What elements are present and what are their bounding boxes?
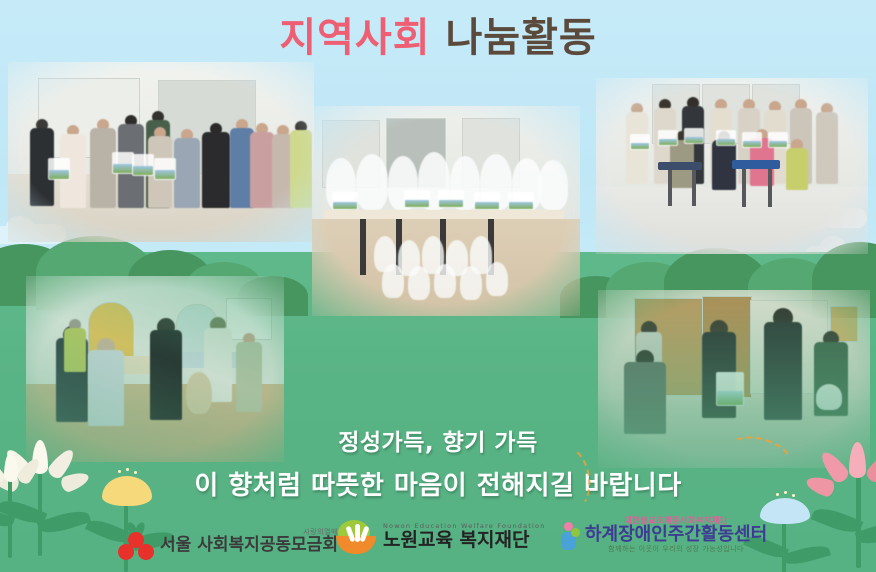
logo-nowon-education-welfare-foundation[interactable]: Nowon Education Welfare Foundation 노원교육 …: [336, 518, 546, 556]
hagye-person-icon: [560, 522, 582, 556]
page-title: 지역사회 나눔활동: [0, 16, 876, 60]
logo-main-label: 노원교육 복지재단: [383, 531, 546, 551]
title-highlight: 지역사회: [279, 15, 430, 61]
title-rest: 나눔활동: [445, 15, 596, 61]
logo-hagye-disability-day-activity-center[interactable]: 대한불교조계종사회복지재단 하계장애인주간활동센터 함께하는 이웃이 우리의 성…: [560, 514, 767, 556]
nowon-leaf-icon: [336, 518, 378, 556]
logo-main-label: 하계장애인주간활동센터: [585, 526, 767, 545]
logo-sub-label: 함께하는 이웃이 우리의 성장 가능성입니다: [585, 546, 767, 553]
logo-main-label: 서울 사회복지공동모금회: [160, 537, 338, 555]
photo-group-photo-participants: [8, 62, 314, 242]
poster-canvas: 지역사회 나눔활동 정성가득, 향기 가득 이 향처럼 따뜻한 마음이 전해지길…: [0, 0, 876, 572]
photo-wheelchair-group-photo: [596, 78, 868, 254]
logo-bar: 사랑의열매 서울 사회복지공동모금회 Nowon Education Welfa…: [0, 506, 876, 568]
logo-seoul-community-chest[interactable]: 사랑의열매 서울 사회복지공동모금회: [112, 520, 338, 564]
three-berry-icon: [112, 520, 156, 564]
photo-packed-gift-bags-on-table: [312, 106, 580, 316]
